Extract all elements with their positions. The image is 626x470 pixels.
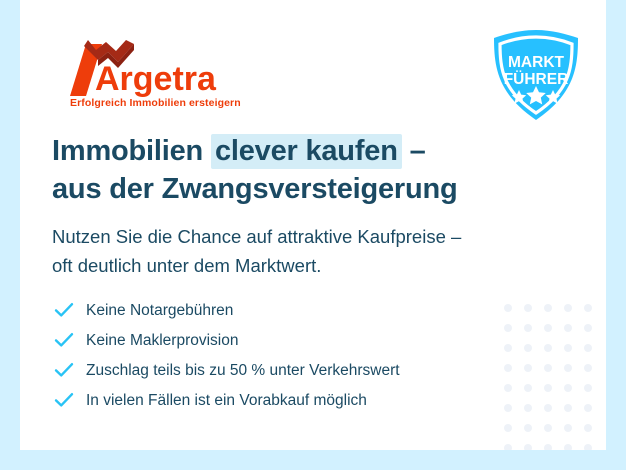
dot	[544, 324, 552, 332]
dot	[584, 324, 592, 332]
dot	[564, 404, 572, 412]
badge-line-1: MARKT	[508, 54, 564, 71]
benefit-label: Zuschlag teils bis zu 50 % unter Verkehr…	[86, 361, 400, 380]
benefit-label: In vielen Fällen ist ein Vorabkauf mögli…	[86, 391, 367, 410]
headline-line-2: aus der Zwangsversteigerung	[52, 173, 458, 205]
dot	[524, 304, 532, 312]
dot	[504, 384, 512, 392]
benefit-list: Keine NotargebührenKeine Maklerprovision…	[54, 295, 400, 415]
check-icon	[54, 332, 86, 348]
check-icon	[54, 392, 86, 408]
dot	[564, 364, 572, 372]
dot	[584, 444, 592, 450]
dot	[564, 384, 572, 392]
dot	[584, 304, 592, 312]
headline-part-1: Immobilien	[52, 135, 211, 167]
promo-banner: Argetra Erfolgreich Immobilien ersteiger…	[0, 0, 626, 470]
dot	[504, 324, 512, 332]
dot	[524, 444, 532, 450]
dot	[524, 404, 532, 412]
dot	[544, 444, 552, 450]
check-icon	[54, 362, 86, 378]
dot	[544, 384, 552, 392]
headline-highlight: clever kaufen	[211, 134, 402, 169]
dot	[584, 364, 592, 372]
dot	[524, 384, 532, 392]
benefit-item: Keine Maklerprovision	[54, 325, 400, 355]
dot	[584, 404, 592, 412]
benefit-item: Keine Notargebühren	[54, 295, 400, 325]
logo-wordmark: Argetra	[95, 60, 217, 98]
dot	[524, 324, 532, 332]
dot	[524, 424, 532, 432]
dot	[564, 324, 572, 332]
benefit-label: Keine Notargebühren	[86, 301, 233, 320]
dot	[564, 424, 572, 432]
dot	[504, 424, 512, 432]
subheadline-line-1: Nutzen Sie die Chance auf attraktive Kau…	[52, 226, 461, 247]
dot	[524, 364, 532, 372]
dot	[524, 344, 532, 352]
dot	[504, 404, 512, 412]
dot	[544, 304, 552, 312]
dot	[504, 364, 512, 372]
badge-line-2: FÜHRER	[504, 71, 569, 88]
dot	[504, 444, 512, 450]
benefit-label: Keine Maklerprovision	[86, 331, 239, 350]
dot	[564, 344, 572, 352]
argetra-logo: Argetra Erfolgreich Immobilien ersteiger…	[56, 38, 256, 110]
dot	[544, 424, 552, 432]
subheadline: Nutzen Sie die Chance auf attraktive Kau…	[52, 222, 552, 280]
dot	[584, 384, 592, 392]
dot	[544, 364, 552, 372]
dot	[584, 424, 592, 432]
headline: Immobilien clever kaufen – aus der Zwang…	[52, 132, 572, 208]
logo-tagline: Erfolgreich Immobilien ersteigern	[70, 97, 241, 109]
dot	[564, 304, 572, 312]
headline-part-2: –	[402, 135, 426, 167]
check-icon	[54, 302, 86, 318]
dot	[564, 444, 572, 450]
dot-grid-pattern	[498, 298, 598, 450]
benefit-item: Zuschlag teils bis zu 50 % unter Verkehr…	[54, 355, 400, 385]
benefit-item: In vielen Fällen ist ein Vorabkauf mögli…	[54, 385, 400, 415]
dot	[584, 344, 592, 352]
banner-content-area: Argetra Erfolgreich Immobilien ersteiger…	[20, 0, 606, 450]
dot	[544, 344, 552, 352]
market-leader-badge: MARKT FÜHRER	[488, 28, 584, 124]
dot	[504, 304, 512, 312]
subheadline-line-2: oft deutlich unter dem Marktwert.	[52, 255, 321, 276]
dot	[544, 404, 552, 412]
dot	[504, 344, 512, 352]
